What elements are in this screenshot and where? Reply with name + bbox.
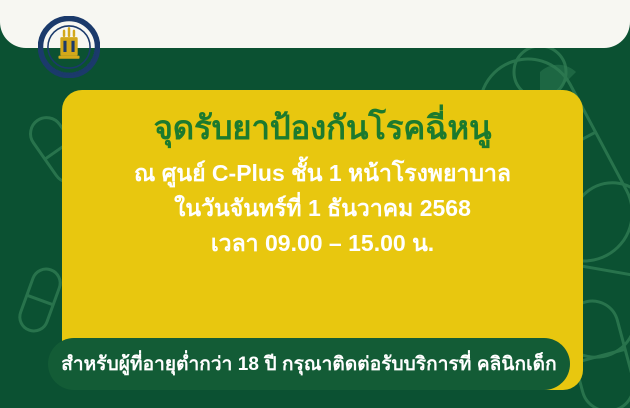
poster-canvas: โรงพยาบาลสงขลานครินทร์ วันที่ 1 ธ.ค. 68 … — [0, 0, 630, 408]
footer-note-pill: สำหรับผู้ที่อายุต่ำกว่า 18 ปี กรุณาติดต่… — [48, 338, 570, 390]
card-location-line: ณ ศูนย์ C-Plus ชั้น 1 หน้าโรงพยาบาล — [62, 156, 583, 191]
card-time-line: เวลา 09.00 – 15.00 น. — [62, 226, 583, 261]
card-date-line: ในวันจันทร์ที่ 1 ธันวาคม 2568 — [62, 191, 583, 226]
footer-note-text: สำหรับผู้ที่อายุต่ำกว่า 18 ปี กรุณาติดต่… — [61, 349, 556, 379]
hospital-seal-logo: โรงพยาบาลสงขลานครินทร์ — [38, 16, 100, 78]
card-title: จุดรับยาป้องกันโรคฉี่หนู — [62, 108, 583, 148]
